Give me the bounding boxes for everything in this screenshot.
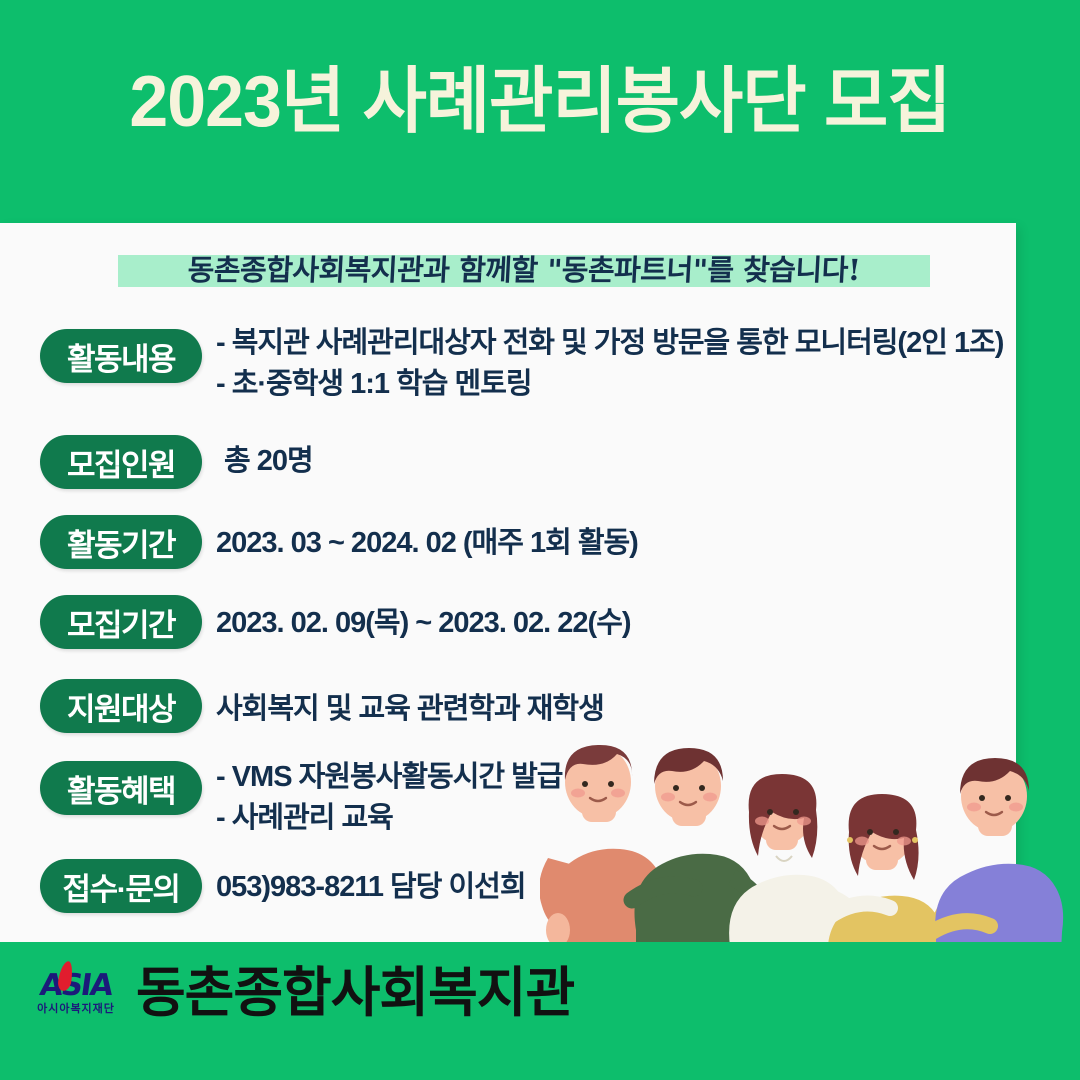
- info-content-activity-period: 2023. 03 ~ 2024. 02 (매주 1회 활동): [216, 523, 1016, 564]
- info-content-activity-content: - 복지관 사례관리대상자 전화 및 가정 방문을 통한 모니터링(2인 1조)…: [216, 323, 1016, 405]
- info-line: - 초·중학생 1:1 학습 멘토링: [216, 364, 1016, 405]
- subtitle-text: 동촌종합사회복지관과 함께할 "동촌파트너"를 찾습니다!: [117, 247, 931, 289]
- label-pill-activity-period: 활동기간: [40, 515, 202, 569]
- label-pill-recruit-period: 모집기간: [40, 595, 202, 649]
- info-line: 053)983-8211 담당 이선희: [216, 867, 1016, 908]
- info-row-eligibility: 지원대상 사회복지 및 교육 관련학과 재학생: [0, 679, 1016, 733]
- info-content-recruit-period: 2023. 02. 09(목) ~ 2023. 02. 22(수): [216, 603, 1016, 644]
- info-content-benefits: - VMS 자원봉사활동시간 발급 - 사례관리 교육: [216, 757, 1016, 839]
- info-line: - VMS 자원봉사활동시간 발급: [216, 757, 1016, 798]
- poster-root: 2023년 사례관리봉사단 모집 동촌종합사회복지관과 함께할 "동촌파트너"를…: [0, 0, 1080, 1080]
- label-pill-activity-content: 활동내용: [40, 329, 202, 383]
- footer-band: ASIA 아시아복지재단 동촌종합사회복지관: [0, 942, 1080, 1080]
- label-pill-eligibility: 지원대상: [40, 679, 202, 733]
- label-pill-recruit-count: 모집인원: [40, 435, 202, 489]
- info-row-recruit-period: 모집기간 2023. 02. 09(목) ~ 2023. 02. 22(수): [0, 595, 1016, 649]
- organization-logo: ASIA 아시아복지재단 동촌종합사회복지관: [30, 966, 574, 1020]
- asia-logo-subtext: 아시아복지재단: [37, 1004, 115, 1015]
- label-pill-benefits: 활동혜택: [40, 761, 202, 815]
- info-line: - 사례관리 교육: [216, 798, 1016, 839]
- info-row-activity-period: 활동기간 2023. 03 ~ 2024. 02 (매주 1회 활동): [0, 515, 1016, 569]
- info-row-benefits: 활동혜택 - VMS 자원봉사활동시간 발급 - 사례관리 교육: [0, 761, 1016, 839]
- page-title: 2023년 사례관리봉사단 모집: [16, 66, 1064, 138]
- content-card: 동촌종합사회복지관과 함께할 "동촌파트너"를 찾습니다! 활동내용 - 복지관…: [0, 223, 1016, 942]
- header-band: 2023년 사례관리봉사단 모집: [0, 0, 1080, 223]
- label-pill-contact: 접수·문의: [40, 859, 202, 913]
- asia-foundation-logo-icon: ASIA 아시아복지재단: [30, 971, 122, 1015]
- info-line: 2023. 03 ~ 2024. 02 (매주 1회 활동): [216, 523, 1016, 564]
- info-line: - 복지관 사례관리대상자 전화 및 가정 방문을 통한 모니터링(2인 1조): [216, 323, 1016, 364]
- organization-name: 동촌종합사회복지관: [136, 966, 574, 1020]
- subtitle-highlight-bar: 동촌종합사회복지관과 함께할 "동촌파트너"를 찾습니다!: [118, 255, 930, 287]
- asia-logo-text: ASIA: [38, 971, 113, 1001]
- info-content-eligibility: 사회복지 및 교육 관련학과 재학생: [216, 689, 1016, 730]
- info-line: 총 20명: [224, 441, 1016, 482]
- info-line: 사회복지 및 교육 관련학과 재학생: [216, 689, 1016, 730]
- info-line: 2023. 02. 09(목) ~ 2023. 02. 22(수): [216, 603, 1016, 644]
- info-row-activity-content: 활동내용 - 복지관 사례관리대상자 전화 및 가정 방문을 통한 모니터링(2…: [0, 329, 1016, 405]
- info-row-recruit-count: 모집인원 총 20명: [0, 435, 1016, 489]
- info-content-contact: 053)983-8211 담당 이선희: [216, 867, 1016, 908]
- info-content-recruit-count: 총 20명: [224, 441, 1016, 482]
- info-row-contact: 접수·문의 053)983-8211 담당 이선희: [0, 859, 1016, 913]
